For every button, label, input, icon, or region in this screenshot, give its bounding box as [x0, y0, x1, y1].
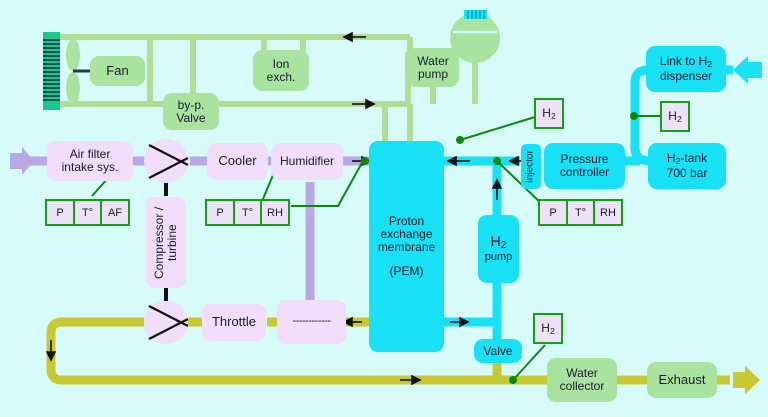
water-pump-label-1: Water	[417, 55, 449, 68]
compressor-turbine-box[interactable]: Compressor / turbine	[146, 197, 186, 288]
h2-dispenser-link-box[interactable]: Link to H2 dispenser	[646, 46, 726, 92]
humidifier-label: Humidifier	[280, 155, 334, 168]
bypass-valve-label-2: Valve	[176, 112, 205, 125]
sensor-stack-rh[interactable]: RH	[593, 199, 623, 226]
air-filter-box[interactable]: Air filter intake sys.	[47, 141, 133, 181]
sensor-group-stack-in[interactable]: P T° RH	[538, 199, 623, 226]
pem-label-3: membrane	[378, 241, 435, 254]
sensor-intake-t[interactable]: T°	[73, 199, 103, 226]
bypass-valve-label-1: by-p.	[178, 99, 205, 112]
valve-label: Valve	[483, 345, 512, 358]
valve-box[interactable]: Valve	[474, 339, 522, 363]
water-collector-label-2: collector	[560, 380, 605, 393]
throttle-label: Throttle	[212, 315, 256, 329]
sensor-intake-p[interactable]: P	[45, 199, 75, 226]
compressor-rotor-icon	[144, 139, 188, 183]
h2-sensor-tank-label: H2	[668, 109, 681, 124]
pem-label-1: Proton	[389, 215, 424, 228]
injector-box[interactable]: Injector	[521, 144, 541, 189]
h2-tank-box[interactable]: H2-tank 700 bar	[648, 143, 726, 189]
sensor-stack-t[interactable]: T°	[566, 199, 596, 226]
water-collector-box[interactable]: Water collector	[547, 358, 617, 402]
pem-label-2: exchange	[380, 228, 432, 241]
compressor-turbine-label: Compressor / turbine	[153, 197, 179, 288]
pressure-controller-label-2: controller	[560, 166, 609, 179]
h2-pump-label-2: pump	[485, 252, 513, 264]
dispenser-label-1: Link to H2	[660, 55, 712, 69]
pressure-controller-box[interactable]: Pressure controller	[544, 143, 625, 189]
cooler-box[interactable]: Cooler	[207, 143, 268, 180]
sensor-cooler-rh[interactable]: RH	[260, 199, 290, 226]
h2-sensor-tank[interactable]: H2	[660, 101, 690, 132]
ion-exchanger-label-2: exch.	[267, 71, 296, 84]
h2-tank-label-1: H2-tank	[667, 152, 707, 166]
pem-label-4: (PEM)	[390, 265, 424, 278]
sensor-group-intake[interactable]: P T° AF	[45, 199, 130, 226]
h2-sensor-exhaust[interactable]: H2	[533, 313, 563, 344]
sensor-group-cooler-out[interactable]: P T° RH	[205, 199, 290, 226]
h2-tank-label-2: 700 bar	[667, 167, 708, 180]
radiator-icon	[43, 32, 60, 110]
exhaust-out-arrow	[733, 366, 760, 394]
dispenser-label-2: dispenser	[660, 70, 712, 83]
h2-sensor-stack-label: H2	[542, 106, 555, 121]
air-pipes	[30, 161, 372, 300]
sensor-intake-af[interactable]: AF	[100, 199, 130, 226]
exhaust-label: Exhaust	[659, 373, 706, 387]
separator-label: ------------	[293, 316, 331, 328]
separator-box[interactable]: ------------	[277, 300, 346, 344]
water-pump-label-2: pump	[418, 68, 448, 81]
throttle-box[interactable]: Throttle	[202, 304, 266, 341]
injector-label: Injector	[526, 150, 537, 183]
air-intake-arrow	[10, 147, 34, 175]
h2-fill-arrow	[733, 56, 762, 84]
fan-label: Fan	[106, 64, 128, 78]
ion-exchanger-label-1: Ion	[273, 58, 290, 71]
h2-sensor-stack[interactable]: H2	[534, 98, 564, 129]
sensor-stack-p[interactable]: P	[538, 199, 568, 226]
air-filter-label-2: intake sys.	[62, 161, 119, 174]
cooler-label: Cooler	[218, 154, 256, 168]
h2-sensor-exhaust-label: H2	[541, 321, 554, 336]
sensor-cooler-t[interactable]: T°	[233, 199, 263, 226]
humidifier-box[interactable]: Humidifier	[271, 143, 343, 180]
exhaust-box[interactable]: Exhaust	[647, 362, 717, 398]
h2-pump-label-1: H2	[491, 234, 507, 252]
bypass-valve-box[interactable]: by-p. Valve	[163, 93, 219, 130]
diagram-canvas: Fan by-p. Valve Ion exch. Water pump Wat…	[0, 0, 768, 417]
ion-exchanger-box[interactable]: Ion exch.	[253, 50, 309, 91]
compressor-label-1: Compressor	[152, 213, 166, 278]
water-pump-box[interactable]: Water pump	[407, 48, 459, 87]
h2-pump-box[interactable]: H2 pump	[478, 215, 519, 283]
pem-stack-box[interactable]: Proton exchange membrane (PEM)	[369, 141, 444, 352]
sensor-cooler-p[interactable]: P	[205, 199, 235, 226]
fan-box[interactable]: Fan	[90, 56, 145, 86]
turbine-rotor-icon	[144, 300, 188, 344]
